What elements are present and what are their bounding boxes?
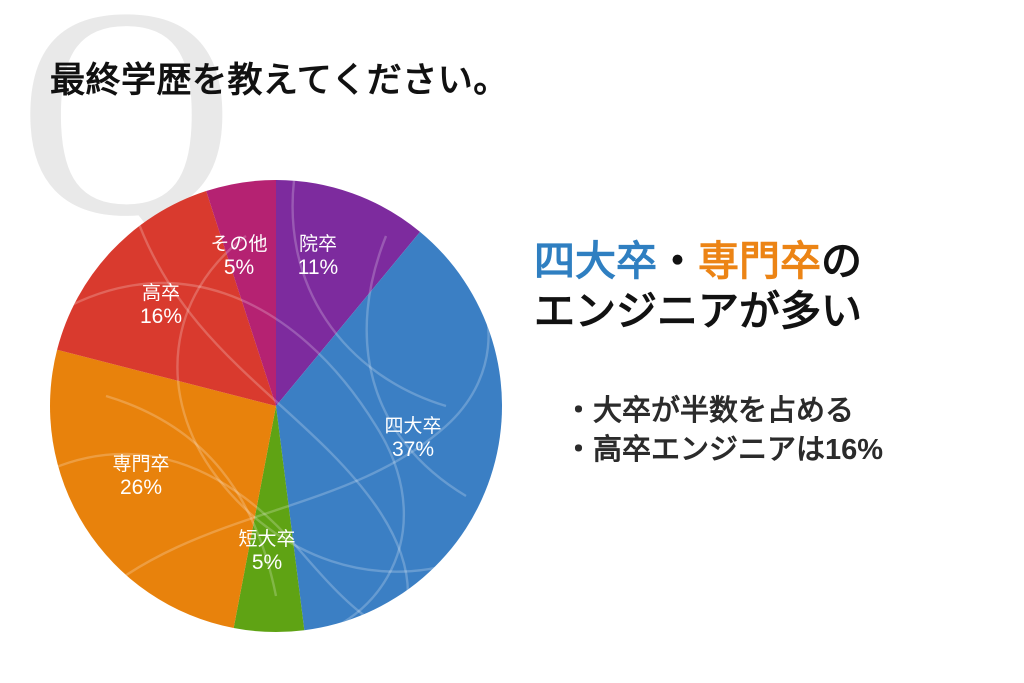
headline-separator: ・ — [657, 238, 698, 284]
pie-slice-label: 高卒16% — [140, 282, 182, 328]
bullet-list: ・大卒が半数を占める ・高卒エンジニアは16% — [564, 392, 1004, 471]
headline-highlight-blue: 四大卒 — [534, 238, 657, 284]
pie-chart-svg: 院卒11%四大卒37%短大卒5%専門卒26%高卒16%その他5% — [46, 176, 506, 636]
pie-slice-label: 専門卒26% — [112, 453, 169, 499]
pie-slice-label: 院卒11% — [298, 233, 338, 279]
list-item: ・大卒が半数を占める — [564, 392, 1004, 431]
pie-chart: 院卒11%四大卒37%短大卒5%専門卒26%高卒16%その他5% — [46, 176, 506, 636]
headline-line-1: 四大卒・専門卒の — [534, 236, 1004, 286]
pie-slice-label: 四大卒37% — [384, 415, 441, 461]
list-item: ・高卒エンジニアは16% — [564, 431, 1004, 470]
headline-suffix: の — [821, 238, 862, 284]
headline-line-2: エンジニアが多い — [534, 286, 1004, 336]
page-title: 最終学歴を教えてください。 — [50, 52, 509, 103]
headline-highlight-orange: 専門卒 — [698, 238, 821, 284]
headline: 四大卒・専門卒の エンジニアが多い — [534, 236, 1004, 336]
